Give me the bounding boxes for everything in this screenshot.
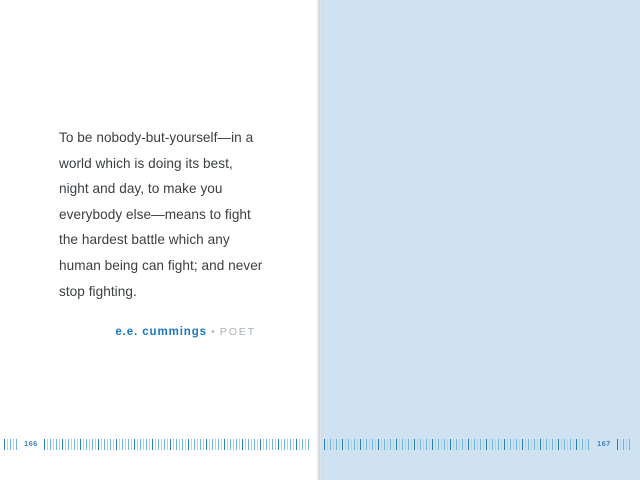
tick-mark <box>170 439 171 450</box>
tick-mark <box>50 439 51 450</box>
tick-mark <box>242 439 243 450</box>
tick-mark <box>221 439 222 450</box>
tick-mark <box>86 439 87 450</box>
tick-mark <box>351 439 352 450</box>
tick-mark <box>299 439 300 450</box>
tick-mark <box>290 439 291 450</box>
tick-mark <box>555 439 556 450</box>
tick-mark <box>588 439 589 450</box>
tick-mark <box>89 439 90 450</box>
tick-mark <box>492 439 493 450</box>
tick-mark <box>65 439 66 450</box>
footer-rule: 166 167 <box>0 437 640 451</box>
tick-mark <box>98 439 99 450</box>
tick-mark <box>13 439 14 450</box>
tick-mark <box>131 439 132 450</box>
tick-mark <box>116 439 117 450</box>
tick-mark <box>393 439 394 450</box>
tick-mark <box>369 439 370 450</box>
tick-mark <box>194 439 195 450</box>
tick-mark <box>465 439 466 450</box>
tick-mark <box>549 439 550 450</box>
tick-mark <box>405 439 406 450</box>
tick-mark <box>158 439 159 450</box>
tick-mark <box>305 439 306 450</box>
tick-mark <box>378 439 379 450</box>
tick-mark <box>444 439 445 450</box>
tick-mark <box>146 439 147 450</box>
tick-mark <box>366 439 367 450</box>
tick-mark <box>56 439 57 450</box>
tick-mark <box>576 439 577 450</box>
tick-mark <box>62 439 63 450</box>
tick-mark <box>363 439 364 450</box>
tick-mark <box>528 439 529 450</box>
tick-mark <box>513 439 514 450</box>
tick-mark <box>122 439 123 450</box>
tick-mark <box>543 439 544 450</box>
tick-mark <box>435 439 436 450</box>
tick-mark <box>339 439 340 450</box>
tick-mark <box>92 439 93 450</box>
tick-mark <box>629 439 630 450</box>
tick-mark <box>333 439 334 450</box>
tick-mark <box>411 439 412 450</box>
tick-mark <box>59 439 60 450</box>
bullet-separator-icon: • <box>207 326 220 338</box>
tick-mark <box>95 439 96 450</box>
tick-mark <box>302 439 303 450</box>
tick-mark <box>429 439 430 450</box>
tick-mark <box>504 439 505 450</box>
left-attribution: e.e. cummings•POET <box>59 322 264 340</box>
tick-mark <box>263 439 264 450</box>
tick-mark <box>552 439 553 450</box>
tick-mark <box>149 439 150 450</box>
tick-mark <box>354 439 355 450</box>
tick-mark <box>275 439 276 450</box>
tick-mark <box>53 439 54 450</box>
tick-mark <box>4 439 5 450</box>
tick-mark <box>227 439 228 450</box>
tick-mark <box>257 439 258 450</box>
left-quote-text: To be nobody-but-yourself—in a world whi… <box>59 125 264 304</box>
tick-mark <box>7 439 8 450</box>
tick-mark <box>101 439 102 450</box>
tick-mark <box>453 439 454 450</box>
tick-mark <box>441 439 442 450</box>
tick-mark <box>483 439 484 450</box>
tick-mark <box>239 439 240 450</box>
tick-mark <box>360 439 361 450</box>
tick-mark <box>212 439 213 450</box>
tick-mark <box>224 439 225 450</box>
tick-mark <box>155 439 156 450</box>
tick-mark <box>324 439 325 450</box>
tick-mark <box>266 439 267 450</box>
folio-right: 167 <box>597 438 611 450</box>
tick-mark <box>215 439 216 450</box>
tick-mark <box>104 439 105 450</box>
tick-mark <box>546 439 547 450</box>
tick-mark <box>567 439 568 450</box>
tick-mark <box>254 439 255 450</box>
tick-mark <box>507 439 508 450</box>
tick-mark <box>387 439 388 450</box>
tick-mark <box>125 439 126 450</box>
tick-mark <box>474 439 475 450</box>
tick-mark <box>537 439 538 450</box>
tick-mark <box>260 439 261 450</box>
tick-mark <box>417 439 418 450</box>
tick-mark <box>173 439 174 450</box>
tick-mark <box>182 439 183 450</box>
tick-mark <box>191 439 192 450</box>
tick-mark <box>296 439 297 450</box>
left-author-role: POET <box>220 326 256 338</box>
tick-mark <box>143 439 144 450</box>
tick-mark <box>525 439 526 450</box>
tick-mark <box>384 439 385 450</box>
tick-mark <box>570 439 571 450</box>
tick-mark <box>287 439 288 450</box>
tick-mark <box>582 439 583 450</box>
tick-mark <box>74 439 75 450</box>
tick-mark <box>278 439 279 450</box>
tick-mark <box>44 439 45 450</box>
tick-mark <box>179 439 180 450</box>
tick-mark <box>558 439 559 450</box>
tick-mark <box>119 439 120 450</box>
tick-mark <box>420 439 421 450</box>
tick-mark <box>534 439 535 450</box>
tick-mark <box>161 439 162 450</box>
tick-mark <box>83 439 84 450</box>
tick-mark <box>245 439 246 450</box>
tick-mark <box>540 439 541 450</box>
right-page: Sometimes you have to play a long time t… <box>321 0 640 480</box>
tick-mark <box>284 439 285 450</box>
tick-mark <box>269 439 270 450</box>
tick-mark <box>450 439 451 450</box>
tick-mark <box>71 439 72 450</box>
tick-mark <box>152 439 153 450</box>
tick-mark <box>209 439 210 450</box>
tick-mark <box>113 439 114 450</box>
tick-mark <box>281 439 282 450</box>
tick-mark <box>218 439 219 450</box>
tick-mark <box>626 439 627 450</box>
tick-mark <box>438 439 439 450</box>
tick-mark <box>620 439 621 450</box>
tick-mark <box>372 439 373 450</box>
tick-mark <box>16 439 17 450</box>
tick-mark <box>495 439 496 450</box>
tick-mark <box>617 439 618 450</box>
tick-mark <box>203 439 204 450</box>
tick-mark <box>408 439 409 450</box>
tick-mark <box>110 439 111 450</box>
tick-mark <box>236 439 237 450</box>
tick-mark <box>68 439 69 450</box>
tick-mark <box>308 439 309 450</box>
tick-mark <box>459 439 460 450</box>
tick-mark <box>176 439 177 450</box>
tick-mark <box>396 439 397 450</box>
left-quote-block: To be nobody-but-yourself—in a world whi… <box>59 125 264 340</box>
tick-mark <box>423 439 424 450</box>
tick-mark <box>585 439 586 450</box>
tick-mark <box>402 439 403 450</box>
tick-mark <box>623 439 624 450</box>
tick-mark <box>248 439 249 450</box>
tick-mark <box>357 439 358 450</box>
tick-mark <box>462 439 463 450</box>
tick-mark <box>293 439 294 450</box>
tick-mark <box>188 439 189 450</box>
tick-mark <box>140 439 141 450</box>
folio-left: 166 <box>24 438 38 450</box>
tick-mark <box>134 439 135 450</box>
tick-group-right-main <box>324 437 591 451</box>
tick-mark <box>522 439 523 450</box>
tick-mark <box>531 439 532 450</box>
tick-mark <box>185 439 186 450</box>
tick-mark <box>447 439 448 450</box>
tick-mark <box>390 439 391 450</box>
tick-mark <box>330 439 331 450</box>
tick-mark <box>489 439 490 450</box>
tick-mark <box>399 439 400 450</box>
tick-mark <box>345 439 346 450</box>
tick-mark <box>480 439 481 450</box>
tick-mark <box>426 439 427 450</box>
left-page: To be nobody-but-yourself—in a world whi… <box>0 0 319 480</box>
tick-mark <box>471 439 472 450</box>
tick-mark <box>164 439 165 450</box>
tick-mark <box>573 439 574 450</box>
tick-mark <box>128 439 129 450</box>
tick-group-left-main <box>44 437 311 451</box>
tick-mark <box>432 439 433 450</box>
tick-mark <box>47 439 48 450</box>
tick-mark <box>342 439 343 450</box>
tick-mark <box>206 439 207 450</box>
tick-mark <box>486 439 487 450</box>
tick-mark <box>77 439 78 450</box>
tick-mark <box>230 439 231 450</box>
tick-mark <box>348 439 349 450</box>
tick-mark <box>381 439 382 450</box>
tick-mark <box>579 439 580 450</box>
tick-mark <box>10 439 11 450</box>
tick-group-right-stub <box>617 437 632 451</box>
tick-mark <box>272 439 273 450</box>
tick-mark <box>477 439 478 450</box>
tick-mark <box>510 439 511 450</box>
tick-mark <box>327 439 328 450</box>
tick-mark <box>80 439 81 450</box>
tick-mark <box>516 439 517 450</box>
tick-mark <box>519 439 520 450</box>
tick-mark <box>561 439 562 450</box>
tick-mark <box>336 439 337 450</box>
tick-mark <box>251 439 252 450</box>
tick-mark <box>375 439 376 450</box>
tick-mark <box>107 439 108 450</box>
tick-mark <box>137 439 138 450</box>
book-spread: To be nobody-but-yourself—in a world whi… <box>0 0 640 480</box>
tick-mark <box>468 439 469 450</box>
tick-mark <box>167 439 168 450</box>
tick-mark <box>414 439 415 450</box>
tick-mark <box>197 439 198 450</box>
tick-mark <box>233 439 234 450</box>
tick-mark <box>200 439 201 450</box>
tick-mark <box>564 439 565 450</box>
tick-group-left-stub <box>4 437 19 451</box>
tick-mark <box>501 439 502 450</box>
tick-mark <box>456 439 457 450</box>
tick-mark <box>498 439 499 450</box>
left-author-name: e.e. cummings <box>115 326 207 338</box>
